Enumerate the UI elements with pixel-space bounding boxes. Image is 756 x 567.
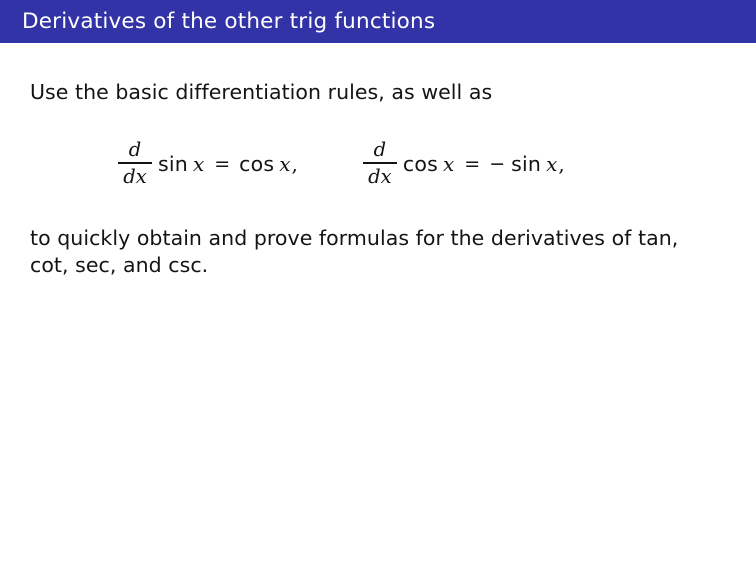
fraction-bar <box>118 162 152 163</box>
slide-title-bar: Derivatives of the other trig functions <box>0 0 756 43</box>
slide-body: Use the basic differentiation rules, as … <box>0 43 756 567</box>
function-name-cos: cos <box>403 152 438 176</box>
equation-derivative-of-sine: d dx sin x = cos x , <box>118 131 298 197</box>
equation-derivative-of-cosine: d dx cos x = − sin x , <box>363 131 565 197</box>
function-name-cos: cos <box>239 152 274 176</box>
variable-x: x <box>192 152 205 176</box>
fraction-numerator: d <box>126 139 144 160</box>
trailing-comma: , <box>558 152 564 176</box>
fraction-denominator: dx <box>120 166 149 187</box>
function-name-sin: sin <box>511 152 541 176</box>
function-name-sin: sin <box>158 152 188 176</box>
fraction-numerator: d <box>371 139 389 160</box>
slide-title: Derivatives of the other trig functions <box>22 11 435 33</box>
fraction-bar <box>363 162 397 163</box>
intro-paragraph: Use the basic differentiation rules, as … <box>30 79 730 106</box>
relation-equals: = <box>205 153 239 175</box>
variable-x: x <box>545 152 558 176</box>
fraction-d-dx: d dx <box>363 139 397 186</box>
relation-equals: = <box>455 153 489 175</box>
minus-sign: − <box>489 153 511 175</box>
presentation-slide: Derivatives of the other trig functions … <box>0 0 756 567</box>
trailing-comma: , <box>292 152 298 176</box>
variable-x: x <box>442 152 455 176</box>
display-math-row: d dx sin x = cos x , d dx <box>0 131 756 197</box>
variable-x: x <box>278 152 291 176</box>
fraction-denominator: dx <box>365 166 394 187</box>
closing-paragraph: to quickly obtain and prove formulas for… <box>30 225 720 279</box>
fraction-d-dx: d dx <box>118 139 152 186</box>
